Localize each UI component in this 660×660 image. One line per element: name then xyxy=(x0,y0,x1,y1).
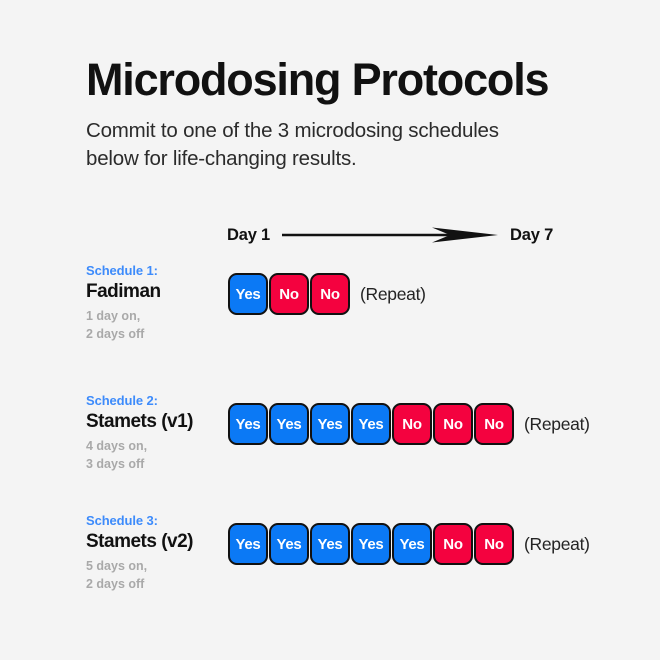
schedule-3-note-line-1: 5 days on, xyxy=(86,558,222,576)
schedule-1-eyebrow: Schedule 1: xyxy=(86,263,222,279)
schedule-1-repeat-label: (Repeat) xyxy=(360,284,426,305)
day-pill-yes[interactable]: Yes xyxy=(351,403,391,445)
schedule-1-note-line-2: 2 days off xyxy=(86,326,222,344)
schedule-2-note: 4 days on, 3 days off xyxy=(86,438,222,474)
schedule-row-2: Schedule 2: Stamets (v1) 4 days on, 3 da… xyxy=(0,393,660,489)
page-subtitle: Commit to one of the 3 microdosing sched… xyxy=(86,117,506,172)
schedule-1-note: 1 day on, 2 days off xyxy=(86,308,222,344)
day-pill-no[interactable]: No xyxy=(433,403,473,445)
day-pill-yes[interactable]: Yes xyxy=(351,523,391,565)
schedule-3-eyebrow: Schedule 3: xyxy=(86,513,222,529)
schedule-3-labels: Schedule 3: Stamets (v2) 5 days on, 2 da… xyxy=(86,513,222,593)
right-arrow-icon xyxy=(282,226,498,244)
infographic-canvas: Microdosing Protocols Commit to one of t… xyxy=(0,0,660,660)
schedule-3-note-line-2: 2 days off xyxy=(86,576,222,594)
day-pill-no[interactable]: No xyxy=(392,403,432,445)
day-pill-no[interactable]: No xyxy=(474,403,514,445)
schedule-2-repeat-label: (Repeat) xyxy=(524,414,590,435)
timeline-start-label: Day 1 xyxy=(227,226,270,245)
day-pill-yes[interactable]: Yes xyxy=(228,523,268,565)
schedule-1-pills: Yes No No (Repeat) xyxy=(228,273,426,315)
day-pill-yes[interactable]: Yes xyxy=(392,523,432,565)
schedule-1-note-line-1: 1 day on, xyxy=(86,308,222,326)
day-pill-no[interactable]: No xyxy=(269,273,309,315)
schedule-3-pills: Yes Yes Yes Yes Yes No No (Repeat) xyxy=(228,523,590,565)
day-pill-yes[interactable]: Yes xyxy=(269,403,309,445)
schedule-3-repeat-label: (Repeat) xyxy=(524,534,590,555)
schedule-1-labels: Schedule 1: Fadiman 1 day on, 2 days off xyxy=(86,263,222,343)
schedule-2-note-line-1: 4 days on, xyxy=(86,438,222,456)
timeline-axis: Day 1 Day 7 xyxy=(227,223,553,247)
schedule-1-name: Fadiman xyxy=(86,280,222,305)
day-pill-no[interactable]: No xyxy=(474,523,514,565)
day-pill-yes[interactable]: Yes xyxy=(269,523,309,565)
schedule-2-labels: Schedule 2: Stamets (v1) 4 days on, 3 da… xyxy=(86,393,222,473)
page-title: Microdosing Protocols xyxy=(86,56,606,103)
day-pill-yes[interactable]: Yes xyxy=(228,273,268,315)
day-pill-no[interactable]: No xyxy=(433,523,473,565)
schedule-2-name: Stamets (v1) xyxy=(86,410,222,435)
day-pill-yes[interactable]: Yes xyxy=(228,403,268,445)
schedule-2-pills: Yes Yes Yes Yes No No No (Repeat) xyxy=(228,403,590,445)
schedule-2-eyebrow: Schedule 2: xyxy=(86,393,222,409)
schedule-3-note: 5 days on, 2 days off xyxy=(86,558,222,594)
timeline-end-label: Day 7 xyxy=(510,226,553,245)
schedule-row-1: Schedule 1: Fadiman 1 day on, 2 days off… xyxy=(0,263,660,359)
schedule-2-note-line-2: 3 days off xyxy=(86,456,222,474)
day-pill-yes[interactable]: Yes xyxy=(310,403,350,445)
schedule-row-3: Schedule 3: Stamets (v2) 5 days on, 2 da… xyxy=(0,513,660,609)
day-pill-no[interactable]: No xyxy=(310,273,350,315)
header: Microdosing Protocols Commit to one of t… xyxy=(86,56,606,172)
schedule-3-name: Stamets (v2) xyxy=(86,530,222,555)
day-pill-yes[interactable]: Yes xyxy=(310,523,350,565)
